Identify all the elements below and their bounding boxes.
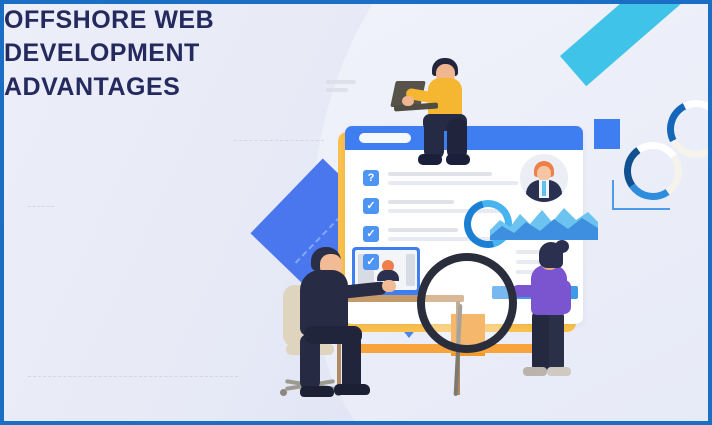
woman-arm-right <box>557 280 571 314</box>
banner: Offshore Web Development Advantages ? ✓ … <box>0 0 712 425</box>
checklist-icon-question[interactable]: ? <box>363 170 379 186</box>
desk-monitor-panel-right <box>406 254 415 286</box>
desk-man-shoe <box>334 384 370 395</box>
deco-dash-1 <box>234 140 324 141</box>
woman-leg-left <box>532 309 549 373</box>
page-title-line-2: Development <box>4 37 254 70</box>
page-title: Offshore Web Development Advantages <box>4 4 254 104</box>
laptop-man-hand <box>402 96 414 106</box>
blue-square <box>594 119 620 149</box>
deco-line-2 <box>326 88 348 92</box>
woman-shoe-right <box>547 367 571 376</box>
checklist-row-line <box>388 181 518 185</box>
area-chart-icon <box>490 200 598 240</box>
deco-dash-2 <box>28 206 54 207</box>
deco-line-1 <box>326 80 356 84</box>
deco-dash-3 <box>28 376 238 377</box>
checklist-row-line <box>388 228 458 232</box>
page-title-line-1: Offshore Web <box>4 4 254 37</box>
woman-leg-right <box>547 309 564 373</box>
checklist-icon-check[interactable]: ✓ <box>363 226 379 242</box>
desk-man-shoe-far <box>300 386 334 397</box>
browser-address-pill <box>359 133 411 143</box>
checklist-icon-check[interactable]: ✓ <box>363 254 379 270</box>
avatar-tie <box>542 181 546 196</box>
laptop-man-shoe-left <box>418 154 442 165</box>
checklist-row-line <box>388 200 454 204</box>
magnifying-glass[interactable] <box>417 253 517 353</box>
checklist-icon-check[interactable]: ✓ <box>363 198 379 214</box>
chair-wheel-left <box>280 389 287 396</box>
avatar-face <box>537 166 551 181</box>
connector-line <box>612 180 670 210</box>
laptop-man-shoe-right <box>446 154 470 165</box>
user-avatar-icon <box>520 154 568 202</box>
checklist-row-line <box>388 172 492 176</box>
woman-shoe-left <box>523 367 547 376</box>
page-title-line-3: Advantages <box>4 71 254 104</box>
woman-hair <box>539 242 563 268</box>
desk-man-hand <box>382 280 396 292</box>
